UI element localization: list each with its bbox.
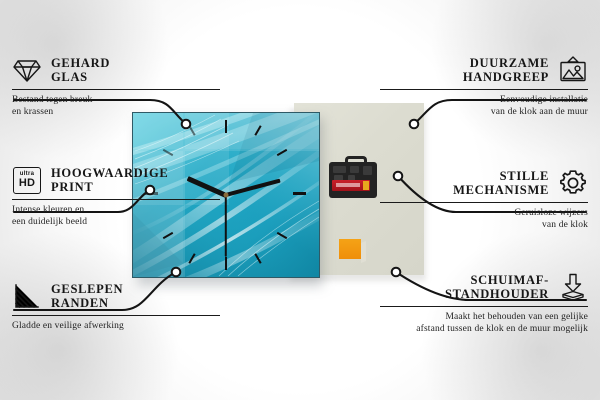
divider <box>12 315 220 316</box>
feature-description: Geruisloze wijzersvan de klok <box>380 207 588 231</box>
feature-stille-mechanisme: STILLEMECHANISME Geruisloze wijzersvan d… <box>380 168 588 231</box>
product-infographic: GEHARDGLAS Bestand tegen breuken krassen… <box>0 0 600 400</box>
feature-schuimafstandhouder: SCHUIMAF-STANDHOUDER Maakt het behouden … <box>380 272 588 335</box>
feature-description: Intense kleuren eneen duidelijk beeld <box>12 204 220 228</box>
beveled-edge-icon <box>12 281 42 311</box>
feature-title: SCHUIMAF-STANDHOUDER <box>445 273 549 301</box>
feature-header: GESLEPENRANDEN <box>12 281 220 311</box>
divider <box>12 89 220 90</box>
feature-duurzame-handgreep: DUURZAMEHANDGREEP Eenvoudige installatie… <box>380 55 588 118</box>
feature-description: Maakt het behouden van een gelijkeafstan… <box>380 311 588 335</box>
feature-gehard-glas: GEHARDGLAS Bestand tegen breuken krassen <box>12 55 220 118</box>
feature-title: GEHARDGLAS <box>51 56 110 84</box>
picture-hanger-icon <box>558 55 588 85</box>
hour-tick <box>225 257 227 270</box>
diamond-icon <box>12 55 42 85</box>
feature-description: Gladde en veilige afwerking <box>12 320 220 332</box>
divider <box>12 199 220 200</box>
second-hand <box>225 195 227 257</box>
feature-header: STILLEMECHANISME <box>380 168 588 198</box>
feature-header: GEHARDGLAS <box>12 55 220 85</box>
hour-tick <box>293 192 306 195</box>
feature-hoogwaardige-print: ultra HD HOOGWAARDIGEPRINT Intense kleur… <box>12 165 220 228</box>
clock-hub <box>224 193 229 198</box>
feature-title: HOOGWAARDIGEPRINT <box>51 166 168 194</box>
divider <box>380 306 588 307</box>
mechanism-battery <box>332 180 370 191</box>
divider <box>380 89 588 90</box>
feature-header: ultra HD HOOGWAARDIGEPRINT <box>12 165 220 195</box>
clock-mechanism <box>329 156 377 198</box>
feature-description: Bestand tegen breuken krassen <box>12 94 220 118</box>
ultra-hd-icon: ultra HD <box>12 165 42 195</box>
feature-title: GESLEPENRANDEN <box>51 282 123 310</box>
gear-icon <box>558 168 588 198</box>
press-down-icon <box>558 272 588 302</box>
feature-header: SCHUIMAF-STANDHOUDER <box>380 272 588 302</box>
divider <box>380 202 588 203</box>
feature-header: DUURZAMEHANDGREEP <box>380 55 588 85</box>
feature-title: STILLEMECHANISME <box>453 169 549 197</box>
foam-spacer <box>339 239 361 259</box>
hour-tick <box>225 120 227 133</box>
feature-geslepen-randen: GESLEPENRANDEN Gladde en veilige afwerki… <box>12 281 220 332</box>
feature-title: DUURZAMEHANDGREEP <box>463 56 549 84</box>
feature-description: Eenvoudige installatievan de klok aan de… <box>380 94 588 118</box>
